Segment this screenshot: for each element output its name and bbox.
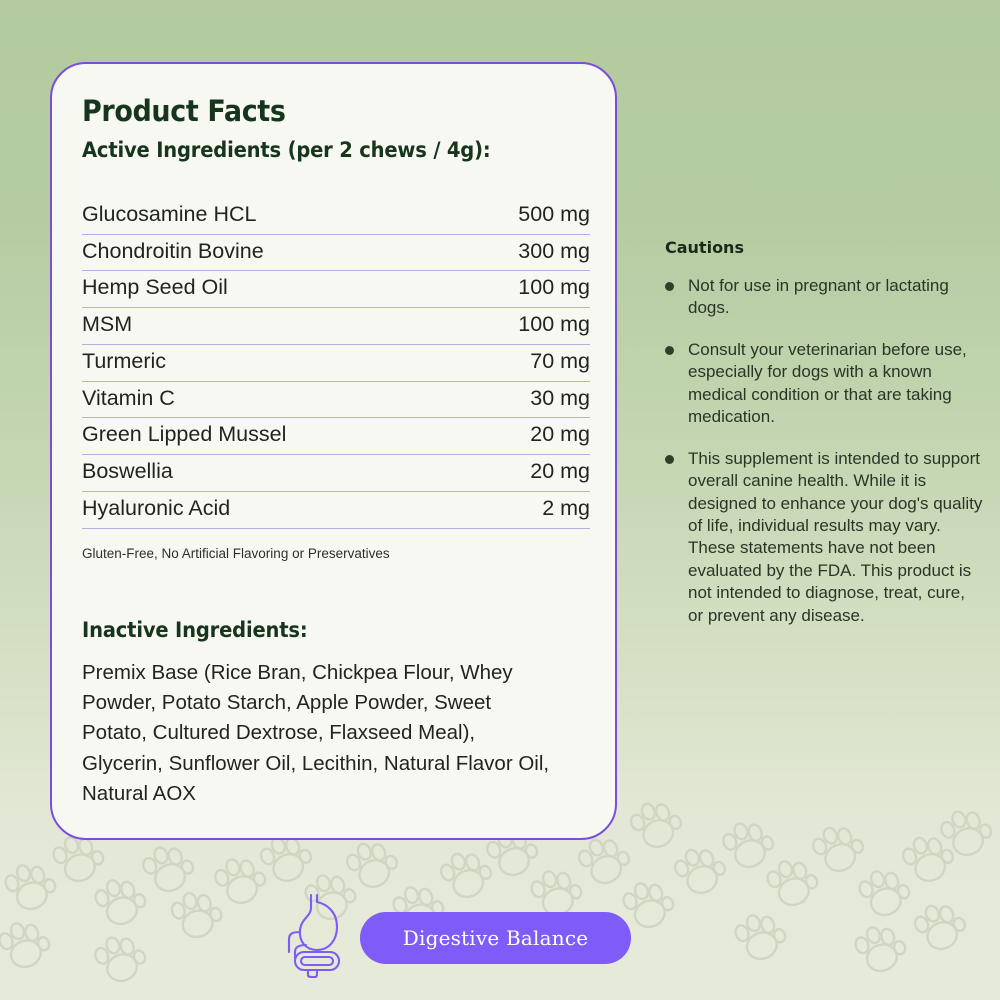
ingredient-name: Green Lipped Mussel [82, 418, 458, 455]
table-row: MSM 100 mg [82, 308, 590, 345]
ingredient-name: MSM [82, 308, 458, 345]
active-ingredients-heading: Active Ingredients (per 2 chews / 4g): [82, 138, 548, 162]
ingredient-amount: 20 mg [458, 455, 590, 492]
caution-text: Consult your veterinarian before use, es… [688, 339, 983, 429]
ingredient-amount: 100 mg [458, 271, 590, 308]
table-row: Chondroitin Bovine 300 mg [82, 234, 590, 271]
cautions-section: Cautions Not for use in pregnant or lact… [665, 238, 983, 646]
caution-text: This supplement is intended to support o… [688, 448, 983, 628]
dietary-fineprint: Gluten-Free, No Artificial Flavoring or … [82, 546, 583, 561]
digestive-balance-button[interactable]: Digestive Balance [360, 912, 631, 964]
list-item: This supplement is intended to support o… [665, 448, 983, 628]
ingredient-amount: 70 mg [458, 344, 590, 381]
ingredient-name: Glucosamine HCL [82, 198, 458, 234]
table-row: Hemp Seed Oil 100 mg [82, 271, 590, 308]
digestive-tract-icon [281, 892, 353, 978]
bullet-icon [665, 282, 674, 291]
inactive-ingredients-heading: Inactive Ingredients: [82, 618, 548, 642]
table-row: Glucosamine HCL 500 mg [82, 198, 590, 234]
table-row: Vitamin C 30 mg [82, 381, 590, 418]
ingredient-name: Boswellia [82, 455, 458, 492]
ingredient-name: Hyaluronic Acid [82, 491, 458, 528]
ingredient-name: Vitamin C [82, 381, 458, 418]
product-facts-card: Product Facts Active Ingredients (per 2 … [50, 62, 617, 840]
ingredient-amount: 500 mg [458, 198, 590, 234]
bullet-icon [665, 455, 674, 464]
page-title: Product Facts [82, 94, 548, 128]
ingredient-name: Chondroitin Bovine [82, 234, 458, 271]
label-canvas: Product Facts Active Ingredients (per 2 … [0, 0, 1000, 1000]
table-row: Green Lipped Mussel 20 mg [82, 418, 590, 455]
list-item: Consult your veterinarian before use, es… [665, 339, 983, 429]
footer-bar: Digestive Balance [0, 900, 1000, 978]
caution-text: Not for use in pregnant or lactating dog… [688, 275, 983, 320]
inactive-ingredients-text: Premix Base (Rice Bran, Chickpea Flour, … [82, 658, 552, 810]
ingredient-name: Turmeric [82, 344, 458, 381]
ingredient-amount: 20 mg [458, 418, 590, 455]
ingredient-name: Hemp Seed Oil [82, 271, 458, 308]
active-ingredients-table: Glucosamine HCL 500 mg Chondroitin Bovin… [82, 198, 590, 529]
bullet-icon [665, 346, 674, 355]
list-item: Not for use in pregnant or lactating dog… [665, 275, 983, 320]
ingredient-amount: 2 mg [458, 491, 590, 528]
table-row: Boswellia 20 mg [82, 455, 590, 492]
cautions-title: Cautions [665, 238, 983, 257]
ingredient-amount: 300 mg [458, 234, 590, 271]
table-row: Hyaluronic Acid 2 mg [82, 491, 590, 528]
table-row: Turmeric 70 mg [82, 344, 590, 381]
ingredient-amount: 100 mg [458, 308, 590, 345]
ingredient-amount: 30 mg [458, 381, 590, 418]
